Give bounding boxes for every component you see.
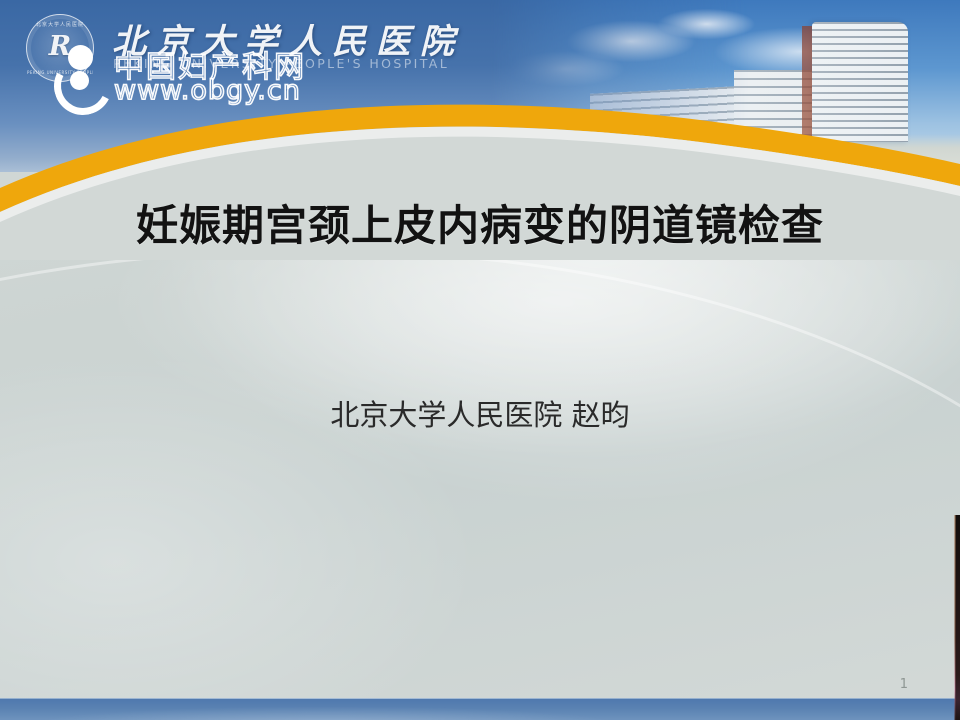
site-watermark: 中国妇产科网 www.obgy.cn [52,42,352,108]
watermark-site-url: www.obgy.cn [114,75,301,106]
presentation-slide: 北京大学人民医院 R PEKING UNIVERSITY PEOPLE'S HO… [0,0,960,720]
building-mid-wing [734,70,812,142]
right-edge-artifact-inner [954,515,956,720]
footer-bar [0,698,960,720]
page-number: 1 [900,677,908,692]
slide-title: 妊娠期宫颈上皮内病变的阴道镜检查 [0,192,960,253]
building-low-wing [590,86,740,146]
obgy-logo-icon [52,44,116,104]
slide-author-affiliation: 北京大学人民医院 赵昀 [0,392,960,434]
logo-ring-text-top: 北京大学人民医院 [27,21,93,28]
building-tower [812,22,908,142]
hospital-building-photo [490,0,960,172]
